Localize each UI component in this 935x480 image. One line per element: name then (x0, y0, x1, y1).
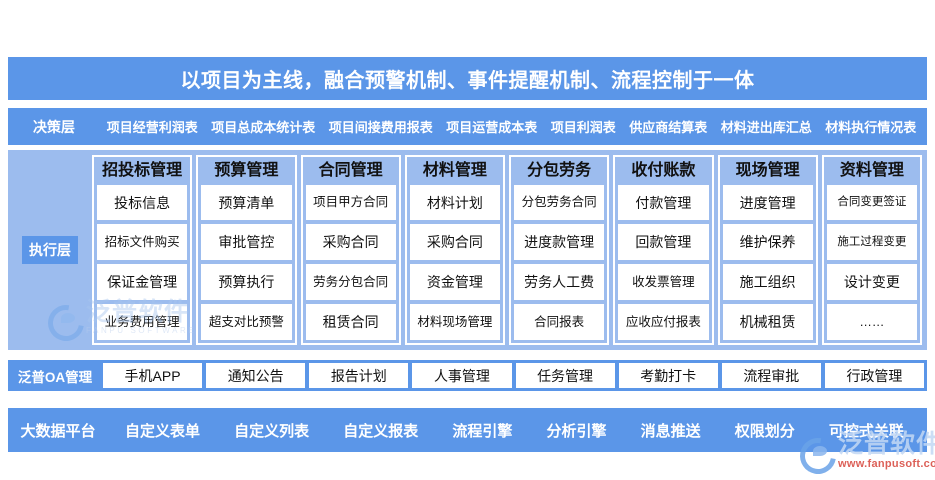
bigdata-item[interactable]: 自定义报表 (343, 420, 418, 441)
oa-layer-label: 泛普OA管理 (11, 366, 99, 386)
oa-layer-row: 泛普OA管理 手机APP 通知公告 报告计划 人事管理 任务管理 考勤打卡 流程… (8, 360, 927, 391)
decision-item[interactable]: 项目运营成本表 (443, 117, 540, 136)
module-item-list: 分包劳务合同 进度款管理 劳务人工费 合同报表 (514, 185, 604, 340)
execution-layer-columns: 招投标管理 投标信息 招标文件购买 保证金管理 业务费用管理 预算管理 预算清单… (92, 150, 927, 350)
module-item-list: 投标信息 招标文件购买 保证金管理 业务费用管理 (97, 185, 187, 340)
module-item[interactable]: 预算执行 (201, 264, 291, 300)
module-item[interactable]: 设计变更 (827, 264, 917, 300)
decision-item[interactable]: 项目经营利润表 (104, 117, 201, 136)
watermark-site-url: www.fanpusoft.com (838, 459, 935, 470)
decision-layer-label: 决策层 (8, 117, 100, 137)
architecture-diagram-page: 以项目为主线，融合预警机制、事件提醒机制、流程控制于一体 决策层 项目经营利润表… (0, 0, 935, 480)
module-title: 分包劳务 (514, 159, 604, 185)
module-title: 招投标管理 (97, 159, 187, 185)
module-item[interactable]: 租赁合同 (306, 304, 396, 340)
module-item[interactable]: 劳务分包合同 (306, 264, 396, 300)
module-item[interactable]: 合同报表 (514, 304, 604, 340)
module-item[interactable]: 进度管理 (723, 185, 813, 221)
module-item[interactable]: 采购合同 (306, 224, 396, 260)
module-title: 合同管理 (306, 159, 396, 185)
module-column-site[interactable]: 现场管理 进度管理 维护保养 施工组织 机械租赁 (718, 155, 818, 345)
module-item[interactable]: 分包劳务合同 (514, 185, 604, 221)
module-item[interactable]: 预算清单 (201, 185, 291, 221)
oa-item[interactable]: 人事管理 (412, 363, 511, 388)
decision-item[interactable]: 项目总成本统计表 (208, 117, 318, 136)
module-title: 材料管理 (410, 159, 500, 185)
module-item[interactable]: 劳务人工费 (514, 264, 604, 300)
module-item[interactable]: 施工过程变更 (827, 224, 917, 260)
oa-item[interactable]: 通知公告 (206, 363, 305, 388)
module-item[interactable]: 业务费用管理 (97, 304, 187, 340)
module-item[interactable]: 审批管控 (201, 224, 291, 260)
execution-layer-label: 执行层 (22, 236, 78, 264)
main-title-text: 以项目为主线，融合预警机制、事件提醒机制、流程控制于一体 (181, 64, 755, 93)
bigdata-item[interactable]: 可控式关联 (829, 420, 904, 441)
oa-item[interactable]: 考勤打卡 (619, 363, 718, 388)
module-column-documents[interactable]: 资料管理 合同变更签证 施工过程变更 设计变更 …… (822, 155, 922, 345)
bigdata-item[interactable]: 流程引擎 (452, 420, 512, 441)
module-item-list: 付款管理 回款管理 收发票管理 应收应付报表 (618, 185, 708, 340)
oa-item[interactable]: 行政管理 (825, 363, 924, 388)
bigdata-layer-row: 大数据平台 自定义表单 自定义列表 自定义报表 流程引擎 分析引擎 消息推送 权… (8, 408, 927, 452)
execution-layer-label-wrap: 执行层 (8, 150, 92, 350)
decision-item[interactable]: 供应商结算表 (626, 117, 710, 136)
bigdata-item[interactable]: 消息推送 (641, 420, 701, 441)
decision-layer-items: 项目经营利润表 项目总成本统计表 项目间接费用报表 项目运营成本表 项目利润表 … (100, 117, 927, 136)
bigdata-item[interactable]: 自定义表单 (125, 420, 200, 441)
module-item[interactable]: 项目甲方合同 (306, 185, 396, 221)
module-item[interactable]: 保证金管理 (97, 264, 187, 300)
module-item[interactable]: 投标信息 (97, 185, 187, 221)
decision-item[interactable]: 项目间接费用报表 (326, 117, 436, 136)
decision-item[interactable]: 项目利润表 (548, 117, 619, 136)
module-title: 现场管理 (723, 159, 813, 185)
module-item[interactable]: 招标文件购买 (97, 224, 187, 260)
module-item[interactable]: 材料现场管理 (410, 304, 500, 340)
module-item[interactable]: 进度款管理 (514, 224, 604, 260)
module-item[interactable]: 应收应付报表 (618, 304, 708, 340)
module-item-list: 项目甲方合同 采购合同 劳务分包合同 租赁合同 (306, 185, 396, 340)
module-column-contract[interactable]: 合同管理 项目甲方合同 采购合同 劳务分包合同 租赁合同 (301, 155, 401, 345)
bigdata-item[interactable]: 权限划分 (735, 420, 795, 441)
oa-item[interactable]: 报告计划 (309, 363, 408, 388)
module-item-ellipsis[interactable]: …… (827, 304, 917, 340)
bigdata-layer-items: 自定义表单 自定义列表 自定义报表 流程引擎 分析引擎 消息推送 权限划分 可控… (108, 420, 927, 441)
module-item[interactable]: 维护保养 (723, 224, 813, 260)
module-item[interactable]: 机械租赁 (723, 304, 813, 340)
module-column-bidding[interactable]: 招投标管理 投标信息 招标文件购买 保证金管理 业务费用管理 (92, 155, 192, 345)
module-title: 预算管理 (201, 159, 291, 185)
module-item[interactable]: 收发票管理 (618, 264, 708, 300)
module-column-material[interactable]: 材料管理 材料计划 采购合同 资金管理 材料现场管理 (405, 155, 505, 345)
module-column-budget[interactable]: 预算管理 预算清单 审批管控 预算执行 超支对比预警 (196, 155, 296, 345)
module-item-list: 合同变更签证 施工过程变更 设计变更 …… (827, 185, 917, 340)
module-column-subcontract-labor[interactable]: 分包劳务 分包劳务合同 进度款管理 劳务人工费 合同报表 (509, 155, 609, 345)
oa-item[interactable]: 任务管理 (516, 363, 615, 388)
module-item[interactable]: 超支对比预警 (201, 304, 291, 340)
module-item[interactable]: 施工组织 (723, 264, 813, 300)
bigdata-layer-label: 大数据平台 (8, 420, 108, 441)
module-item-list: 预算清单 审批管控 预算执行 超支对比预警 (201, 185, 291, 340)
decision-layer-row: 决策层 项目经营利润表 项目总成本统计表 项目间接费用报表 项目运营成本表 项目… (8, 108, 927, 145)
module-title: 收付账款 (618, 159, 708, 185)
module-column-receivables-payables[interactable]: 收付账款 付款管理 回款管理 收发票管理 应收应付报表 (613, 155, 713, 345)
bigdata-item[interactable]: 自定义列表 (234, 420, 309, 441)
module-item[interactable]: 资金管理 (410, 264, 500, 300)
oa-item[interactable]: 流程审批 (722, 363, 821, 388)
oa-item[interactable]: 手机APP (103, 363, 202, 388)
main-title-banner: 以项目为主线，融合预警机制、事件提醒机制、流程控制于一体 (8, 57, 927, 100)
module-item[interactable]: 付款管理 (618, 185, 708, 221)
module-item[interactable]: 回款管理 (618, 224, 708, 260)
decision-item[interactable]: 材料执行情况表 (822, 117, 919, 136)
decision-item[interactable]: 材料进出库汇总 (718, 117, 815, 136)
module-item-list: 材料计划 采购合同 资金管理 材料现场管理 (410, 185, 500, 340)
module-item[interactable]: 采购合同 (410, 224, 500, 260)
module-item[interactable]: 材料计划 (410, 185, 500, 221)
module-item-list: 进度管理 维护保养 施工组织 机械租赁 (723, 185, 813, 340)
module-item[interactable]: 合同变更签证 (827, 185, 917, 221)
execution-layer-panel: 执行层 招投标管理 投标信息 招标文件购买 保证金管理 业务费用管理 预算管理 … (8, 150, 927, 350)
module-title: 资料管理 (827, 159, 917, 185)
bigdata-item[interactable]: 分析引擎 (547, 420, 607, 441)
